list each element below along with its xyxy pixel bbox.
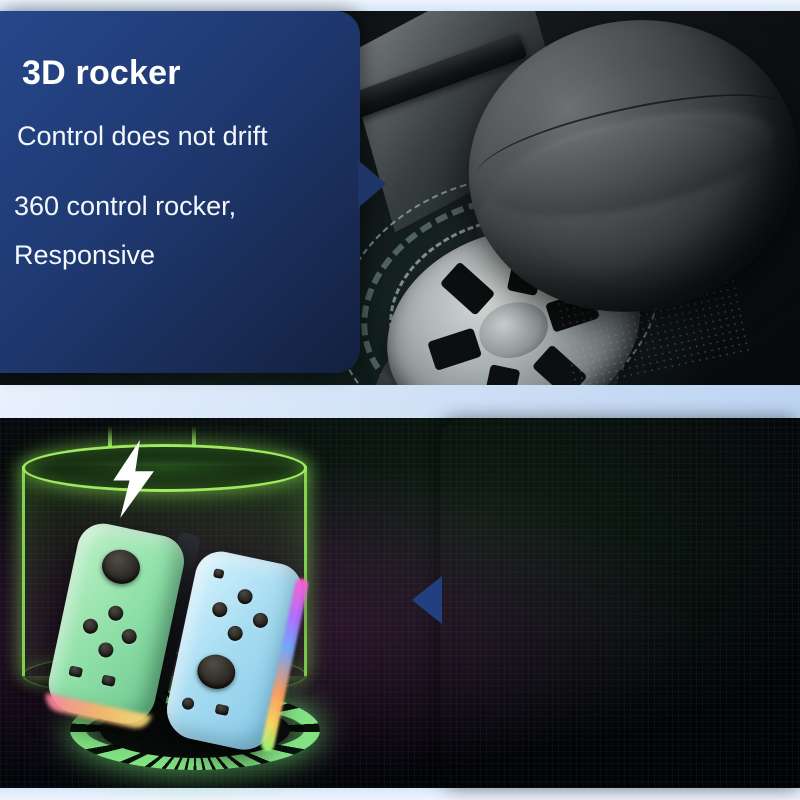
section-divider-band (0, 385, 800, 418)
screenshot-button (215, 704, 230, 716)
joycon-right-analog-stick (194, 651, 238, 692)
gear-spoke (427, 328, 482, 371)
callout-tail-pointer-right (358, 160, 386, 208)
bottom-edge-band (0, 788, 800, 800)
dpad-up-button (107, 604, 125, 622)
dpad-down-button (97, 641, 115, 659)
gear-spoke (481, 364, 520, 385)
callout-title-3d-rocker: 3D rocker (22, 55, 181, 92)
plus-button (213, 568, 225, 579)
gear-spoke (440, 261, 496, 315)
x-button (236, 588, 254, 606)
top-edge-band (0, 0, 800, 11)
capture-button (68, 665, 83, 677)
dpad-right-button (120, 628, 138, 646)
callout-3d-rocker: 3D rocker Control does not drift 360 con… (0, 11, 360, 373)
callout-tail-pointer-left (412, 576, 442, 624)
product-banner: 3D rocker Control does not drift 360 con… (0, 0, 800, 800)
callout-long-life-battery: Long life battery Large capacity battery… (440, 418, 800, 788)
minus-button (101, 674, 116, 686)
callout-line-responsive: Responsive (14, 240, 155, 271)
dpad-left-button (82, 617, 100, 635)
b-button (226, 624, 244, 642)
y-button (211, 601, 229, 619)
battery-cylinder-rim (22, 444, 307, 492)
joycon-left-analog-stick (99, 546, 143, 587)
a-button (252, 611, 270, 629)
home-button (181, 696, 195, 710)
callout-line-control-drift: Control does not drift (17, 121, 268, 152)
callout-line-360-rocker: 360 control rocker, (14, 191, 236, 222)
